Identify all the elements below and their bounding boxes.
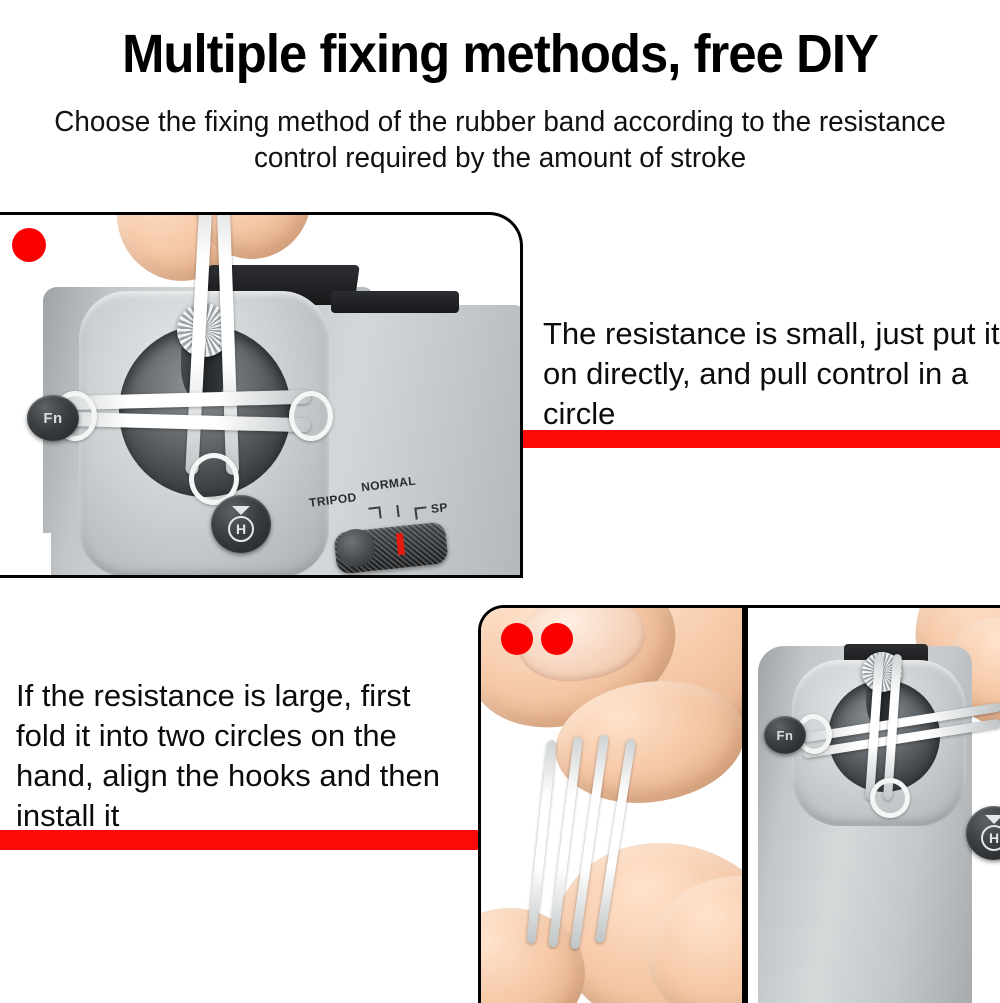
fn-button[interactable]: Fn	[27, 395, 79, 441]
photo-crop-mask	[0, 533, 51, 578]
rth-icon: H	[228, 506, 254, 542]
photo-single-loop-install: Fn H TRIPOD NORMAL SP	[0, 215, 520, 575]
rth-triangle-icon	[985, 815, 1000, 824]
rth-triangle-icon	[232, 506, 250, 515]
caption-method-2: If the resistance is large, first fold i…	[16, 676, 468, 836]
photo-panel-method-1: Fn H TRIPOD NORMAL SP	[0, 212, 523, 578]
mode-tick-sport	[414, 506, 427, 519]
marker-dot-double-1	[501, 623, 533, 655]
photo-panel-method-2b: Fn H	[745, 605, 1000, 1003]
rubber-band-hook-right	[289, 391, 333, 441]
return-to-home-button[interactable]: H	[211, 495, 271, 553]
controller-top-trim-2	[331, 291, 459, 313]
header: Multiple fixing methods, free DIY Choose…	[0, 0, 1000, 192]
page-subtitle: Choose the fixing method of the rubber b…	[39, 104, 961, 176]
rth-home-label: H	[228, 516, 254, 542]
caption-method-1: The resistance is small, just put it on …	[543, 314, 1000, 434]
fn-button-label: Fn	[777, 728, 794, 743]
mode-label-sport: SP	[430, 500, 448, 516]
fn-button-label: Fn	[43, 410, 62, 427]
fn-button[interactable]: Fn	[764, 716, 806, 754]
photo-folding-band	[481, 608, 742, 1003]
rth-icon: H	[981, 815, 1000, 851]
rth-home-label: H	[981, 825, 1000, 851]
marker-dot-double-2	[541, 623, 573, 655]
page-title: Multiple fixing methods, free DIY	[30, 24, 970, 84]
photo-double-loop-install: Fn H	[748, 608, 1000, 1003]
infographic-root: Multiple fixing methods, free DIY Choose…	[0, 0, 1000, 1000]
band-hook-bottom	[870, 778, 910, 818]
mode-tick-tripod	[368, 506, 381, 519]
photo-panel-method-2a	[478, 605, 745, 1003]
marker-dot-single	[12, 228, 46, 262]
